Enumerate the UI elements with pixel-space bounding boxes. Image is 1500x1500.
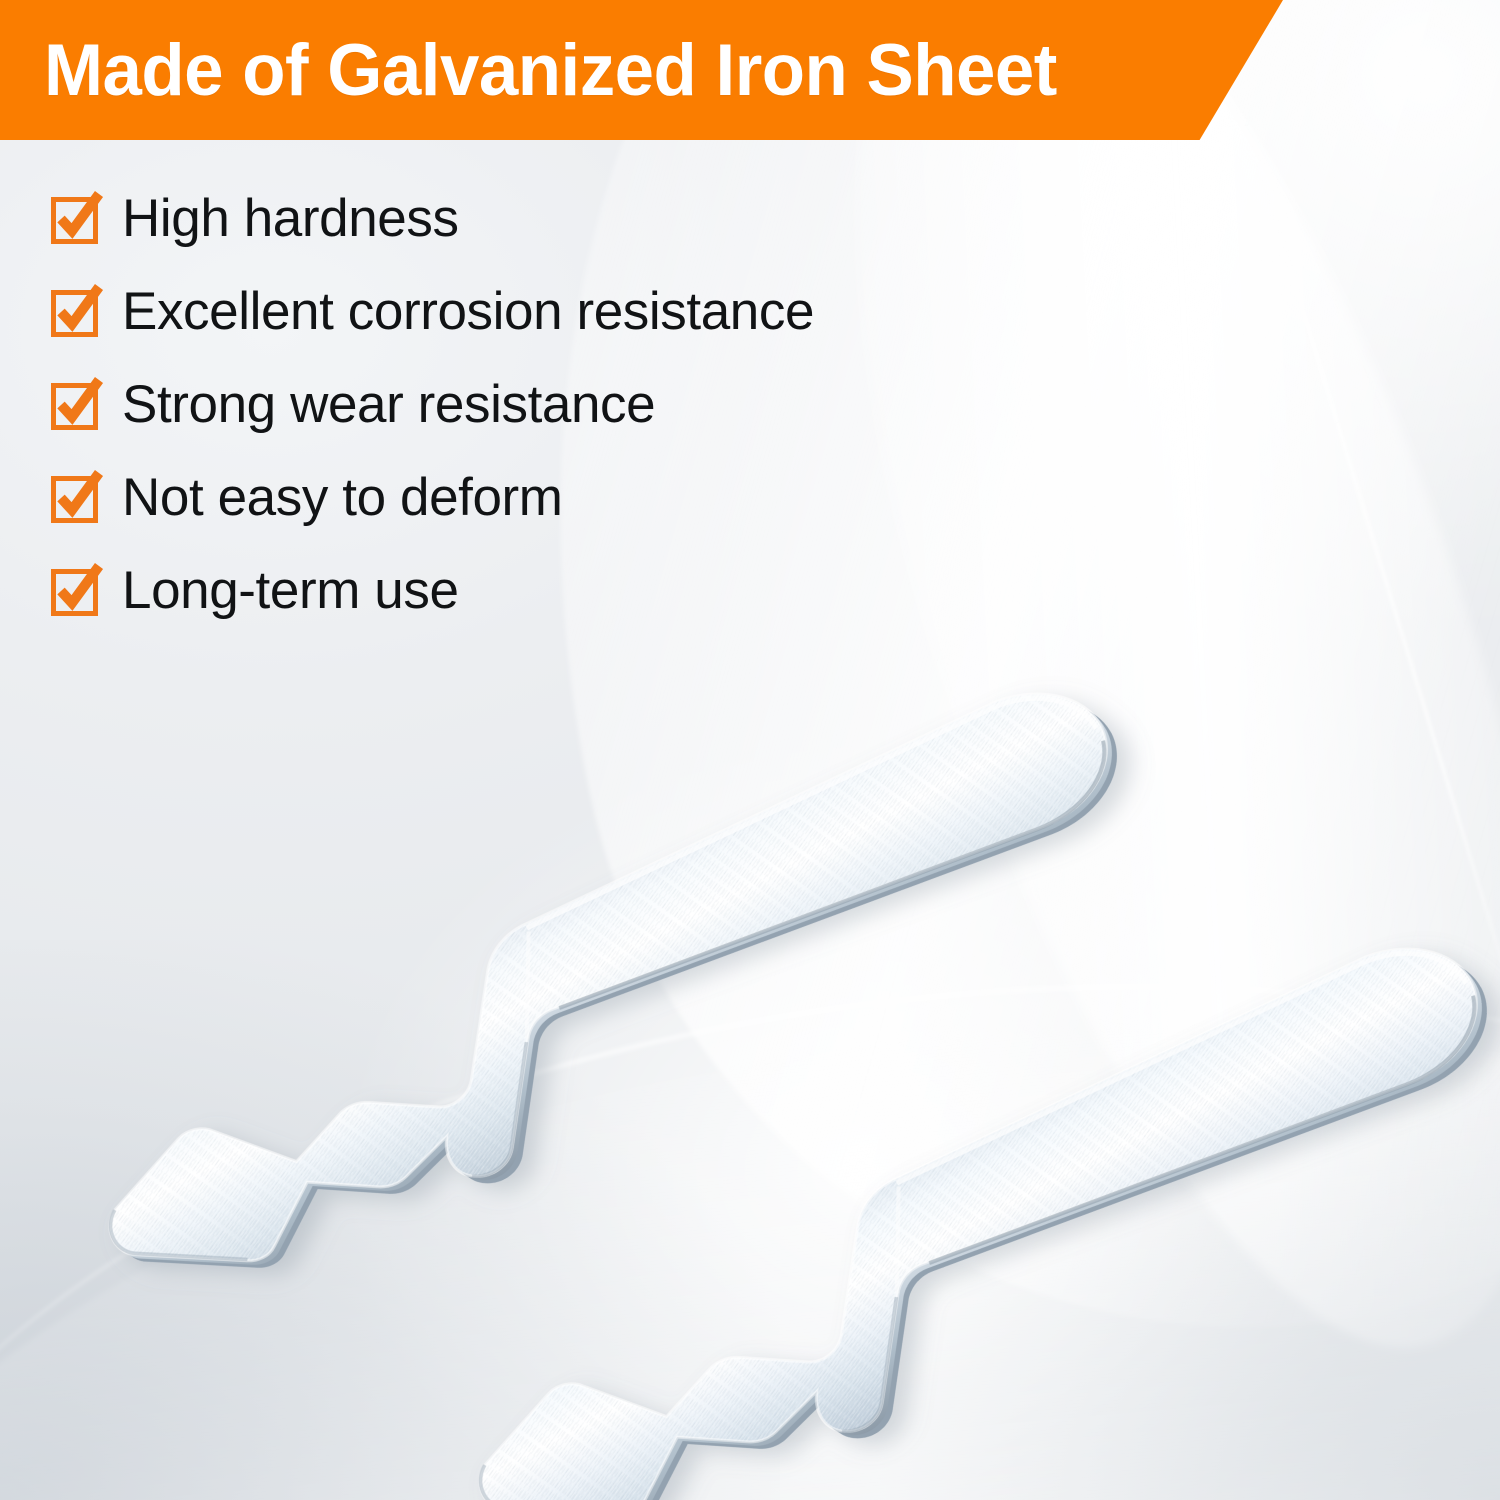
feature-list: High hardness Excellent corrosion resist… bbox=[50, 172, 814, 637]
feature-label: High hardness bbox=[122, 192, 459, 245]
checkbox-checked-icon bbox=[50, 286, 102, 338]
feature-item: Strong wear resistance bbox=[50, 358, 814, 451]
checkbox-checked-icon bbox=[50, 379, 102, 431]
checkbox-checked-icon bbox=[50, 565, 102, 617]
wrench-upper bbox=[72, 643, 1165, 1352]
header-banner: Made of Galvanized Iron Sheet bbox=[0, 0, 1283, 140]
feature-item: Long-term use bbox=[50, 544, 814, 637]
feature-item: High hardness bbox=[50, 172, 814, 265]
product-feature-image: Made of Galvanized Iron Sheet High hardn… bbox=[0, 0, 1500, 1500]
checkbox-checked-icon bbox=[50, 193, 102, 245]
checkbox-checked-icon bbox=[50, 472, 102, 524]
feature-label: Long-term use bbox=[122, 564, 459, 617]
feature-label: Strong wear resistance bbox=[122, 378, 655, 431]
feature-item: Excellent corrosion resistance bbox=[50, 265, 814, 358]
banner-title: Made of Galvanized Iron Sheet bbox=[44, 34, 1057, 107]
feature-item: Not easy to deform bbox=[50, 451, 814, 544]
feature-label: Excellent corrosion resistance bbox=[122, 285, 814, 338]
feature-label: Not easy to deform bbox=[122, 471, 563, 524]
